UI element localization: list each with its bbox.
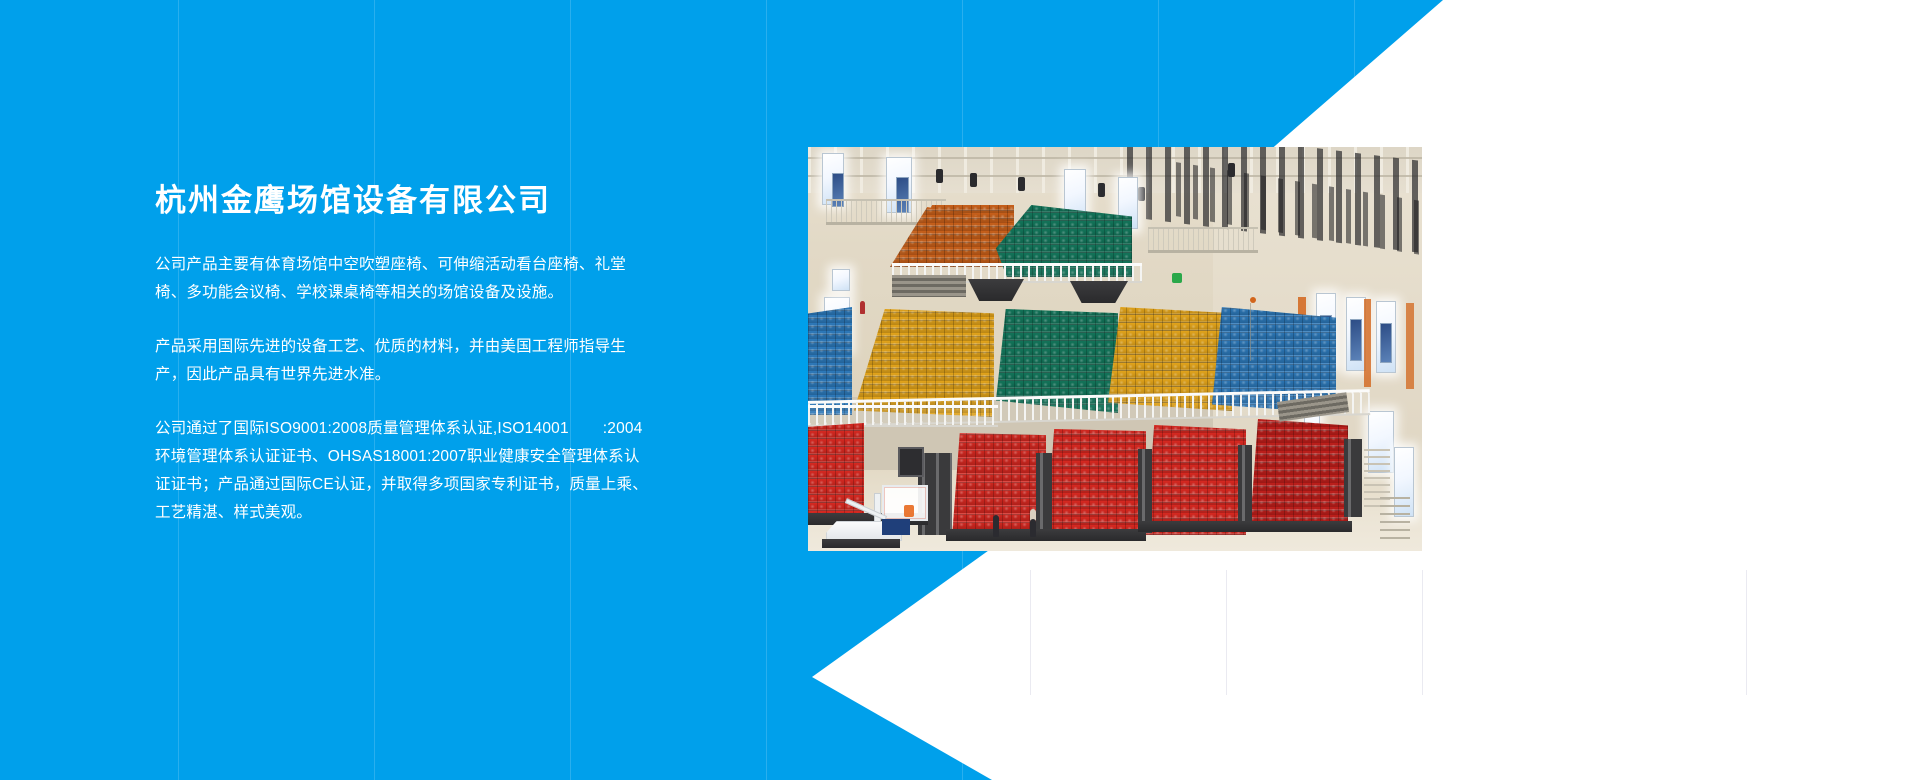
- seating-block-red-3: [1044, 429, 1146, 539]
- person-figure: [993, 515, 999, 537]
- certification-text-part1: 公司通过了国际ISO9001:2008质量管理体系认证,ISO14001: [155, 420, 569, 437]
- intro-paragraph-quality: 产品采用国际先进的设备工艺、优质的材料，并由美国工程师指导生产，因此产品具有世界…: [155, 333, 655, 389]
- intro-paragraph-certifications: 公司通过了国际ISO9001:2008质量管理体系认证,ISO14001:200…: [155, 415, 655, 527]
- seating-block-blue-left: [808, 307, 852, 415]
- hero-banner: 杭州金鹰场馆设备有限公司 公司产品主要有体育场馆中空吹塑座椅、可伸缩活动看台座椅…: [0, 0, 1920, 780]
- seating-block-red-4: [1144, 425, 1246, 535]
- bottom-divider-lines: [0, 548, 1920, 780]
- intro-paragraph-products: 公司产品主要有体育场馆中空吹塑座椅、可伸缩活动看台座椅、礼堂椅、多功能会议椅、学…: [155, 251, 655, 307]
- gymnasium-photo: [808, 147, 1422, 551]
- hero-text-column: 杭州金鹰场馆设备有限公司 公司产品主要有体育场馆中空吹塑座椅、可伸缩活动看台座椅…: [155, 182, 675, 527]
- gymnasium-photo-content: [808, 147, 1422, 551]
- seating-block-red-5: [1248, 419, 1348, 527]
- page-title: 杭州金鹰场馆设备有限公司: [155, 182, 675, 221]
